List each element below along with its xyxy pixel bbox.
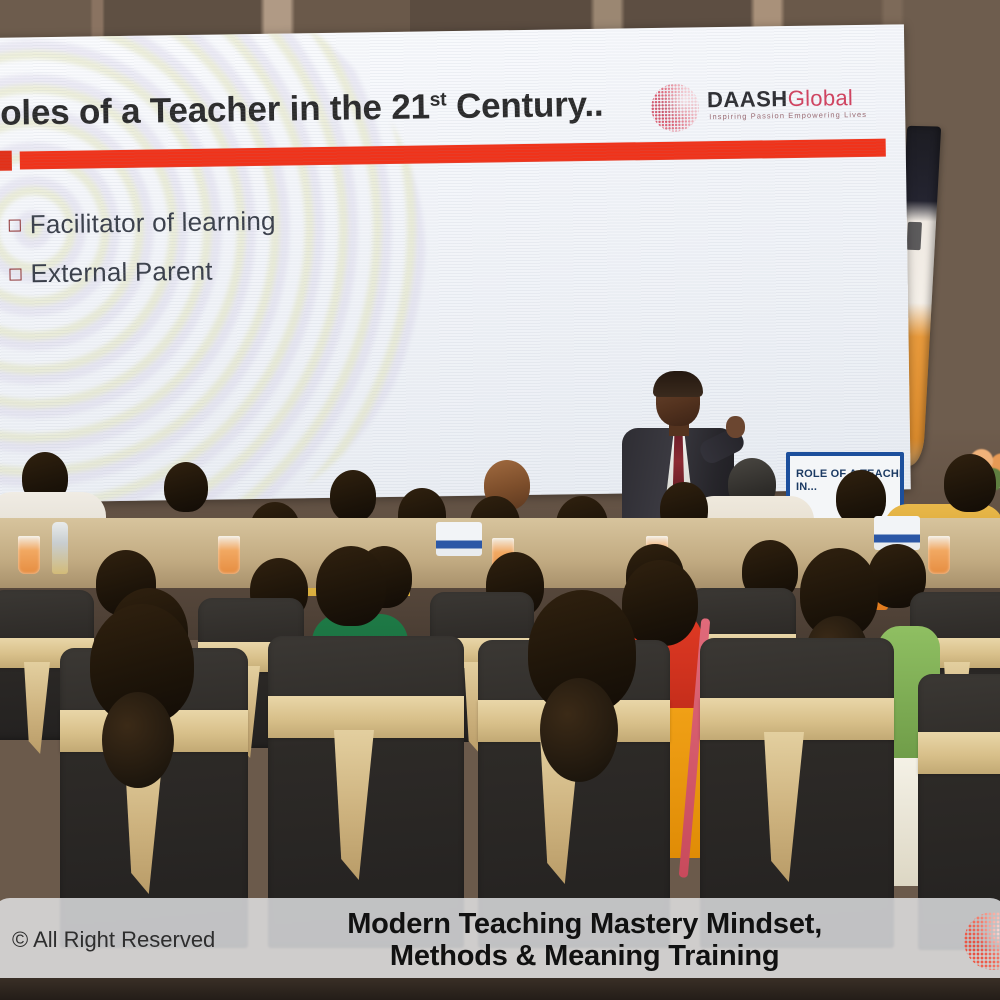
bullet-label: Facilitator of learning [30, 206, 276, 241]
list-item: Facilitator of learning [9, 201, 609, 241]
caption-banner: © All Right Reserved Modern Teaching Mas… [0, 898, 1000, 982]
footer-strip [0, 978, 1000, 1000]
water-bottle [52, 522, 68, 574]
audience-head [164, 462, 208, 512]
logo-name-secondary: Global [788, 85, 854, 111]
caption-title: Modern Teaching Mastery Mindset, Methods… [215, 908, 1000, 973]
square-bullet-icon [9, 268, 21, 280]
presenter-hand [726, 416, 745, 438]
chair-sash-tail [334, 730, 374, 880]
logo-wordmark: DAASHGlobal [707, 85, 854, 113]
logo-tagline: Inspiring Passion Empowering Lives [709, 110, 867, 121]
slide-title: Roles of a Teacher in the 21st Century.. [0, 84, 675, 134]
slide-divider: 8 [0, 137, 886, 173]
caption-title-line1: Modern Teaching Mastery Mindset, [215, 908, 954, 940]
slide-title-superscript: st [430, 89, 447, 110]
square-bullet-icon [9, 219, 21, 231]
slide-title-end: Century.. [446, 85, 603, 126]
slide-bullet-list: Facilitator of learning External Parent [9, 201, 610, 308]
audience-head [330, 470, 376, 522]
slide-page-tab: 8 [0, 151, 12, 172]
audience-head [944, 454, 996, 512]
tissue-box [436, 522, 482, 556]
slide-content: Roles of a Teacher in the 21st Century..… [0, 24, 911, 503]
chair-sash-tail [764, 732, 804, 882]
hair-bun [102, 692, 174, 788]
bullet-label: External Parent [30, 256, 213, 290]
copyright-text: © All Right Reserved [12, 927, 215, 953]
juice-glass [18, 536, 40, 574]
caption-title-line2: Methods & Meaning Training [215, 940, 954, 972]
slide-divider-bar [20, 139, 886, 170]
halftone-sphere-icon [651, 83, 700, 132]
juice-glass [928, 536, 950, 574]
presenter-hair [653, 371, 703, 397]
chair-sash-tail [24, 662, 50, 754]
projection-screen: Roles of a Teacher in the 21st Century..… [0, 24, 911, 503]
photo-stage: Roles of a Teacher in the 21st Century..… [0, 0, 1000, 1000]
slide-title-main: Roles of a Teacher in the 21 [0, 87, 430, 133]
list-item: External Parent [9, 250, 609, 290]
chair-sash [918, 732, 1000, 774]
audience-head [316, 546, 386, 626]
daash-global-logo: DAASHGlobal Inspiring Passion Empowering… [651, 79, 862, 138]
logo-name-primary: DAASH [707, 86, 788, 112]
hair-bun [540, 678, 618, 782]
juice-glass [218, 536, 240, 574]
